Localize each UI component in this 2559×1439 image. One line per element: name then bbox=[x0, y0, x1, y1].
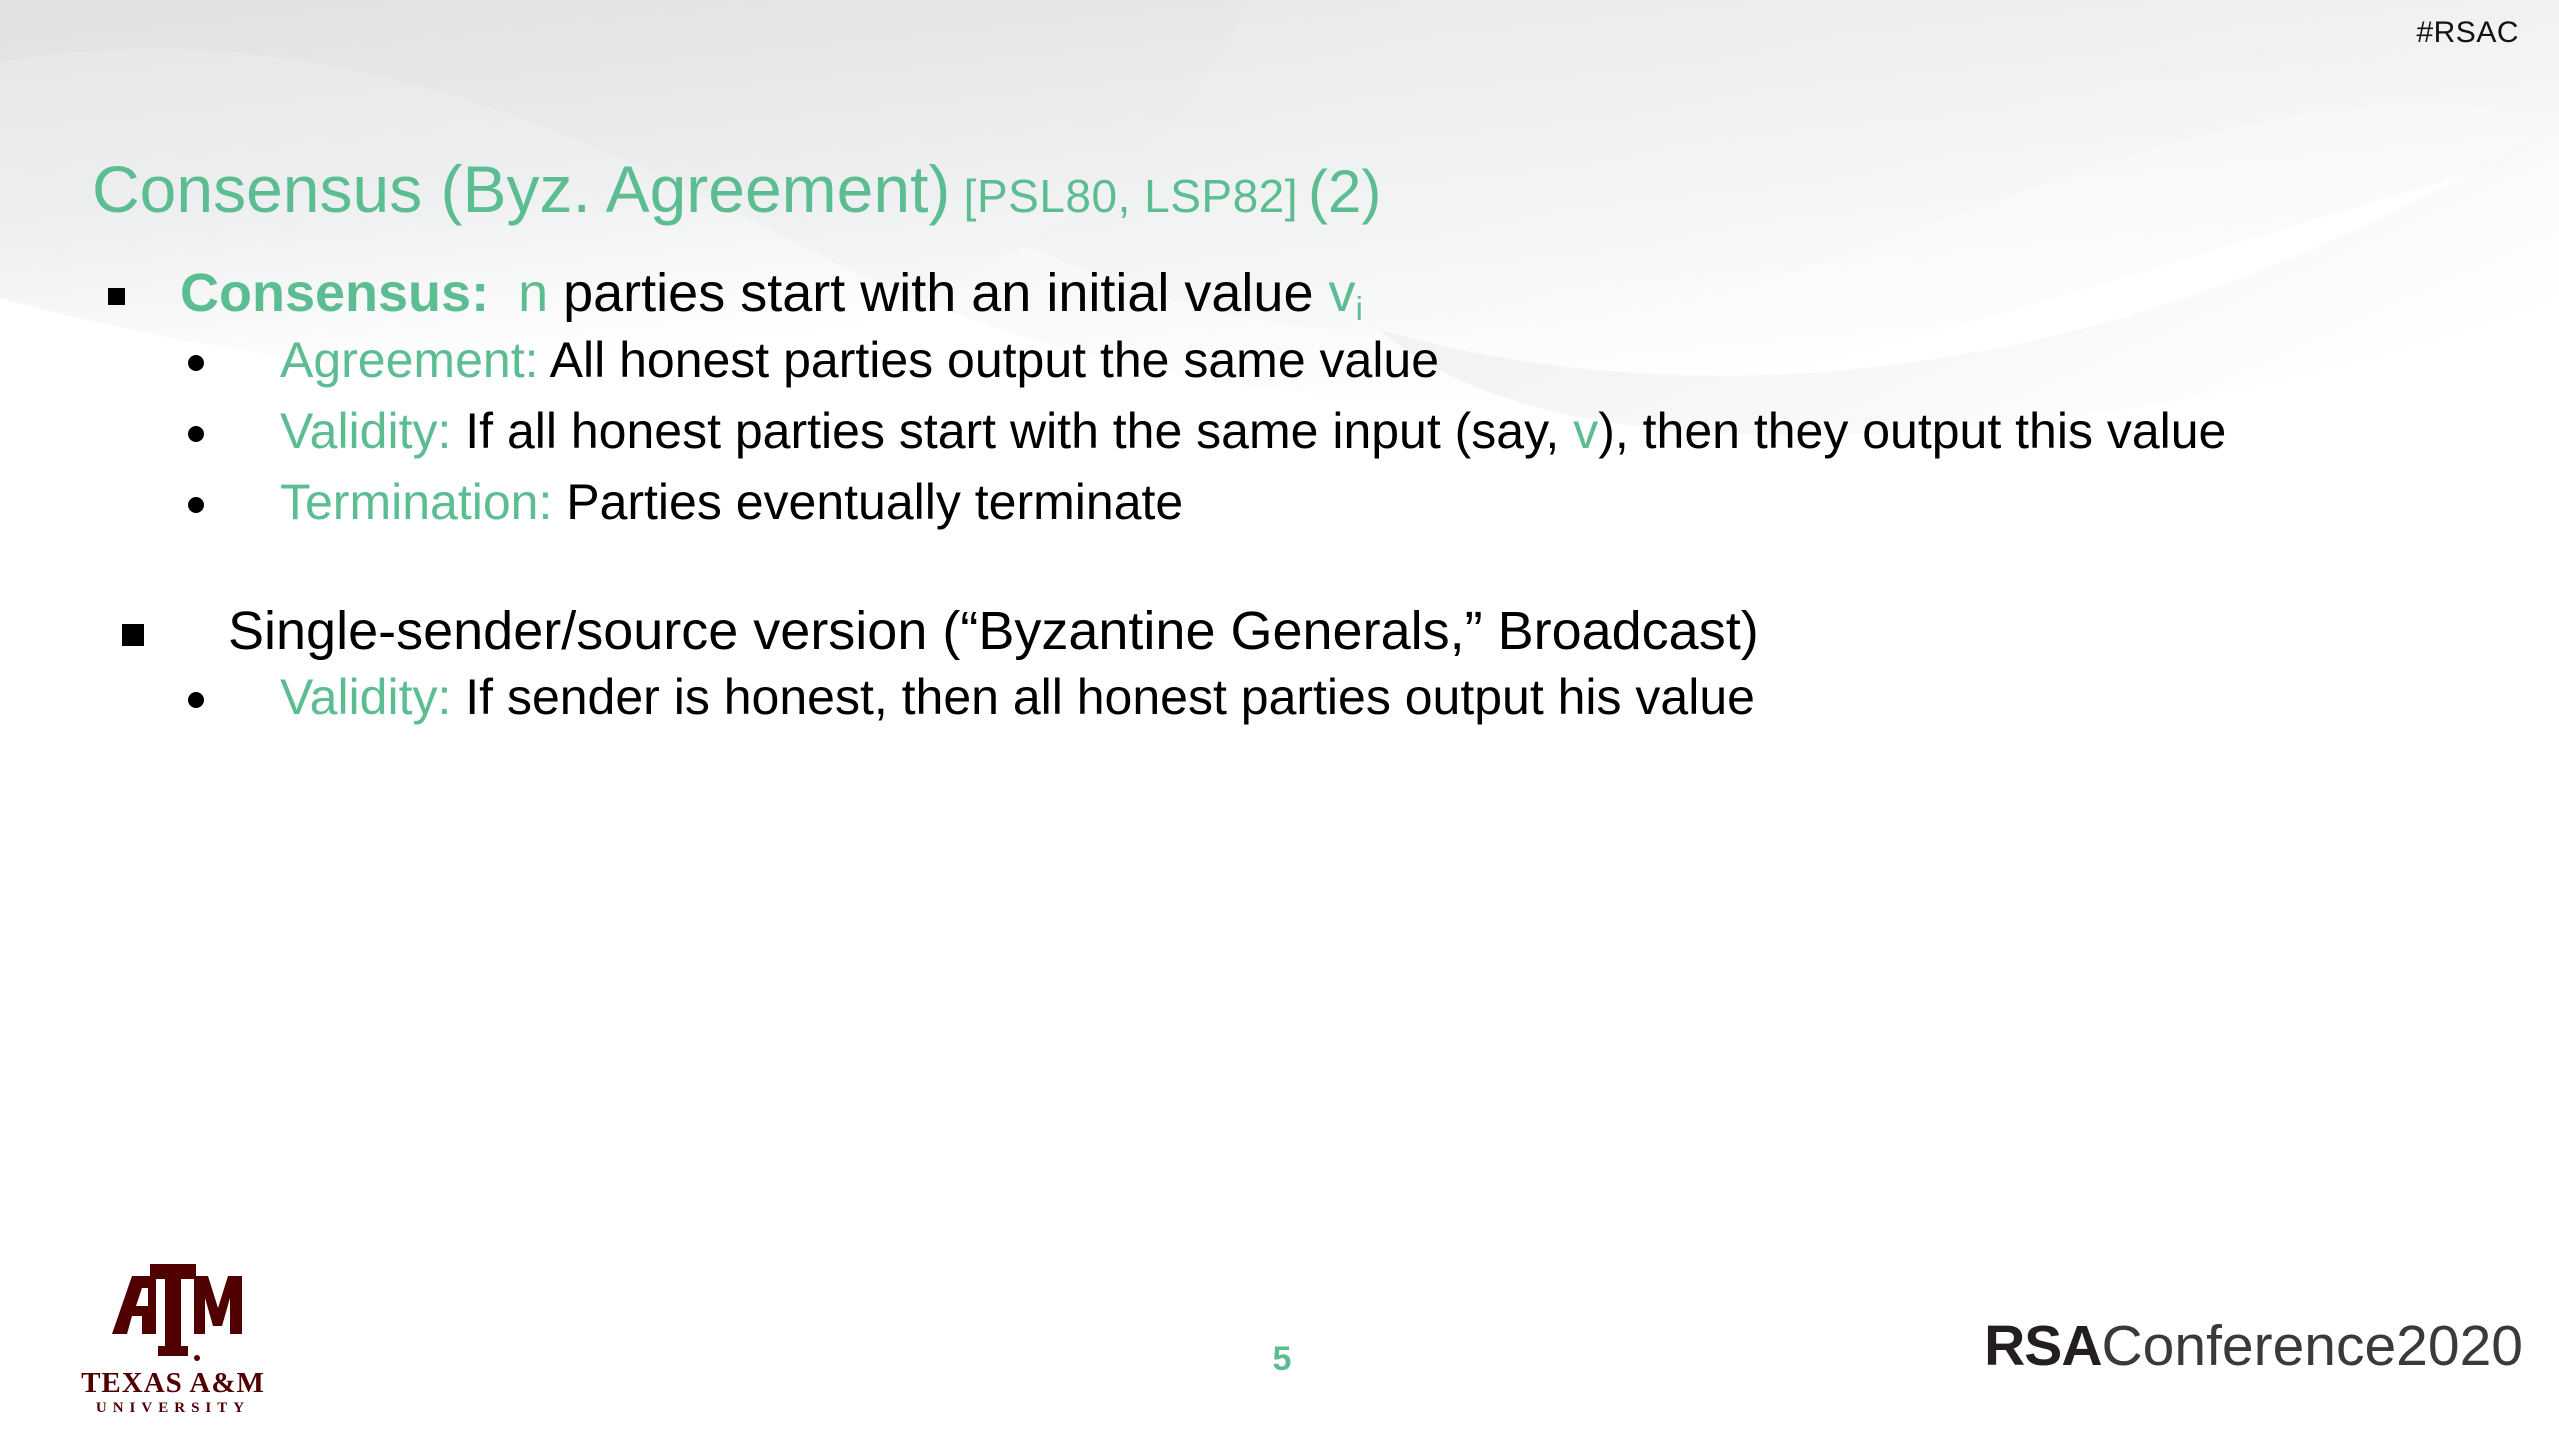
bullet-agreement-label: Agreement: bbox=[280, 332, 538, 388]
section-spacer bbox=[0, 544, 2559, 600]
rsac-hashtag: #RSAC bbox=[2416, 16, 2519, 50]
title-sequence: (2) bbox=[1298, 158, 1381, 225]
bullet-consensus-variable-subscript: i bbox=[1355, 291, 1362, 328]
slide-canvas: #RSAC Consensus (Byz. Agreement) [PSL80,… bbox=[0, 0, 2559, 1439]
bullet-consensus-variable: v bbox=[1328, 263, 1355, 323]
bullet-single-sender: Single-sender/source version (“Byzantine… bbox=[0, 600, 2559, 663]
bullet-validity-1-text-part2: ), then they output this value bbox=[1598, 403, 2226, 459]
rsa-conference-text: Conference2020 bbox=[2102, 1314, 2524, 1378]
bullet-validity-1-text-part1: If all honest parties start with the sam… bbox=[451, 403, 1573, 459]
round-bullet-icon bbox=[188, 355, 204, 371]
bullet-validity-2-text: If sender is honest, then all honest par… bbox=[451, 669, 1755, 725]
round-bullet-icon bbox=[188, 426, 204, 442]
bullet-validity-2: Validity: If sender is honest, then all … bbox=[0, 668, 2559, 727]
round-bullet-icon bbox=[188, 692, 204, 708]
round-bullet-icon bbox=[188, 497, 204, 513]
rsa-conference-logo: RSAConference2020 bbox=[1984, 1318, 2523, 1375]
texas-am-logo: TEXAS A&M UNIVERSITY bbox=[58, 1258, 288, 1438]
texas-am-monogram-icon bbox=[98, 1258, 248, 1366]
bullet-termination-text: Parties eventually terminate bbox=[552, 474, 1183, 530]
texas-am-wordmark: TEXAS A&M bbox=[58, 1368, 288, 1398]
title-citation: [PSL80, LSP82] bbox=[950, 170, 1298, 222]
bullet-agreement: Agreement: All honest parties output the… bbox=[0, 331, 2559, 390]
page-title: Consensus (Byz. Agreement) [PSL80, LSP82… bbox=[92, 156, 1381, 222]
bullet-validity-2-label: Validity: bbox=[280, 669, 451, 725]
title-main-text: Consensus (Byz. Agreement) bbox=[92, 152, 950, 226]
bullet-termination: Termination: Parties eventually terminat… bbox=[0, 473, 2559, 532]
bullet-validity-1-variable: v bbox=[1573, 403, 1598, 459]
bullet-validity-1-label: Validity: bbox=[280, 403, 451, 459]
bullet-consensus-label: Consensus: bbox=[180, 263, 503, 323]
bullet-agreement-text: All honest parties output the same value bbox=[538, 332, 1439, 388]
bullet-validity-1: Validity: If all honest parties start wi… bbox=[0, 402, 2559, 461]
bullet-termination-label: Termination: bbox=[280, 474, 552, 530]
body-content: Consensus: n parties start with an initi… bbox=[0, 262, 2559, 739]
square-bullet-icon bbox=[108, 288, 125, 305]
bullet-consensus: Consensus: n parties start with an initi… bbox=[0, 262, 2559, 325]
texas-am-subwordmark: UNIVERSITY bbox=[58, 1400, 288, 1417]
square-bullet-icon bbox=[122, 624, 144, 646]
bullet-single-sender-text: Single-sender/source version (“Byzantine… bbox=[228, 601, 1759, 661]
rsa-brand-text: RSA bbox=[1984, 1314, 2101, 1378]
bullet-consensus-text: parties start with an initial value bbox=[548, 263, 1328, 323]
bullet-consensus-n: n bbox=[503, 263, 548, 323]
page-number: 5 bbox=[1232, 1340, 1332, 1379]
